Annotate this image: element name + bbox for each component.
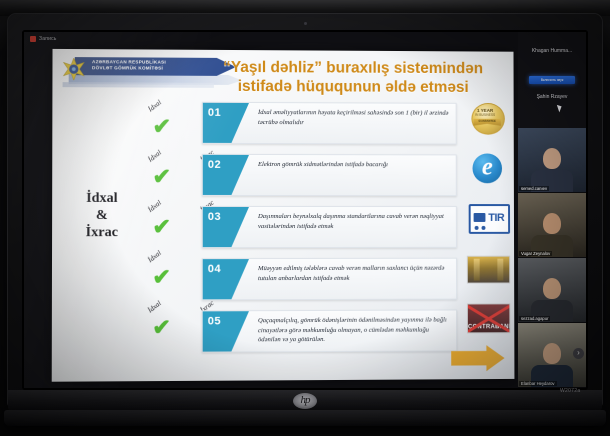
icon-slot-5: CONTRABAND: [465, 301, 510, 341]
illustration-icon-strip: 1 YEAR IN BUSINESS GUARANTEE: [464, 103, 512, 351]
row-number: 04: [208, 263, 221, 275]
left-category-label: İdxal & İxrac: [58, 190, 145, 241]
participant-name: Elanbar Heydarov: [519, 381, 557, 386]
check-mark-icon: ✔: [152, 317, 171, 339]
requirement-row: 05Qaçaqmalçılıq, gömrük ödənişlərinin öd…: [202, 309, 457, 352]
check-mark-icon: ✔: [152, 266, 171, 288]
participants-panel: Khagan Humma... Включить звук Şahin Rzay…: [518, 32, 586, 388]
recording-label: Запись: [39, 36, 57, 42]
zoom-meeting-window: Запись: [24, 32, 586, 388]
participant-tile[interactable]: Vugar Zeynalov: [518, 193, 586, 257]
tir-label: TIR: [484, 209, 508, 227]
row-text: Müəyyən edilmiş tələblərə cavab verən ma…: [258, 264, 450, 283]
row-text: Elektron gömrük xidmətlərindən istifadə …: [258, 160, 450, 170]
row-text: Daşınmaları beynəlxalq daşınma standartl…: [258, 212, 450, 231]
unmute-button-label: Включить звук: [529, 76, 575, 84]
tile-person-head: [543, 343, 561, 364]
tile-person-head: [543, 148, 561, 169]
requirements-list: 01İdxal əməliyyatlarının həyata keçirilm…: [202, 102, 457, 363]
active-speaker-area: Khagan Humma... Включить звук Şahin Rzay…: [518, 32, 586, 128]
participant-tile[interactable]: sezzad.agapur: [518, 258, 586, 322]
check-mark-icon: ✔: [152, 216, 171, 238]
recording-dot-icon: [30, 36, 36, 42]
requirement-row: 03Daşınmaları beynəlxalq daşınma standar…: [202, 206, 457, 248]
participant-name: Vugar Zeynalov: [519, 251, 552, 256]
second-participant-name: Şahin Rzayev: [518, 94, 586, 100]
row-number: 05: [208, 315, 221, 327]
badge-ribbon-text: GUARANTEE: [473, 119, 501, 123]
webcam-icon: [304, 22, 307, 25]
eight-point-star-emblem-icon: [63, 58, 85, 80]
shared-screen-slide[interactable]: AZƏRBAYCAN RESPUBLİKASI DÖVLƏT GÖMRÜK KO…: [52, 49, 515, 382]
monitor-model-label: W2072a: [560, 388, 580, 394]
import-check: İdxal✔: [147, 306, 193, 346]
requirement-row: 04Müəyyən edilmiş tələblərə cavab verən …: [202, 258, 457, 301]
row-number: 01: [208, 107, 221, 119]
requirement-row: 01İdxal əməliyyatlarının həyata keçirilm…: [202, 102, 457, 145]
hp-logo: [293, 393, 317, 409]
unmute-button[interactable]: Включить звук: [529, 76, 575, 84]
import-check-label: İdxal: [146, 249, 162, 264]
check-mark-icon: ✔: [152, 166, 171, 188]
contraband-prohibited-icon: CONTRABAND: [467, 303, 510, 333]
requirement-row: 02Elektron gömrük xidmətlərindən istifad…: [202, 154, 457, 196]
slide-title-line-1: “Yaşıl dəhliz” buraxılış sistemindən: [204, 58, 502, 78]
import-check: İdxal✔: [147, 156, 193, 196]
screenshot-root: Запись: [0, 0, 610, 436]
left-label-line-1: İdxal: [58, 190, 145, 207]
tile-person-head: [543, 278, 561, 299]
row-number: 02: [208, 159, 221, 171]
import-check: İdxal✔: [147, 256, 193, 296]
truck-wheel-rear-icon: [482, 226, 486, 230]
row-number: 03: [208, 211, 221, 223]
laptop: Запись: [8, 14, 602, 426]
next-page-button[interactable]: [573, 348, 584, 359]
participant-tile[interactable]: semed.canıev: [518, 128, 586, 192]
tir-truck-sign-icon: TIR: [469, 204, 510, 234]
participant-name: sezzad.agapur: [519, 316, 550, 321]
import-check-label: İdxal: [146, 299, 162, 314]
icon-slot-4: [465, 252, 510, 292]
icon-slot-3: TIR: [465, 202, 510, 242]
left-label-line-2: &: [58, 207, 145, 224]
internet-explorer-icon: [472, 153, 502, 183]
warehouse-photo: [467, 256, 510, 284]
one-year-in-business-badge: 1 YEAR IN BUSINESS GUARANTEE: [469, 103, 505, 141]
import-check: İdxal✔: [147, 106, 193, 146]
row-text: Qaçaqmalçılıq, gömrük ödənişlərinin ödən…: [258, 315, 450, 344]
truck-wheel-front-icon: [475, 226, 479, 230]
participant-name: semed.canıev: [519, 186, 549, 191]
row-text: İdxal əməliyyatlarının həyata keçirilməs…: [258, 108, 450, 128]
import-check-label: İdxal: [147, 98, 163, 113]
tile-person-head: [543, 213, 561, 234]
badge-line-2: IN BUSINESS: [469, 113, 500, 117]
import-check-label: İdxal: [147, 149, 163, 164]
left-label-line-3: İxrac: [58, 224, 145, 241]
icon-slot-2: [465, 152, 510, 192]
import-check: İdxal✔: [147, 206, 193, 246]
slide-title: “Yaşıl dəhliz” buraxılış sistemindən ist…: [204, 58, 502, 97]
recording-indicator[interactable]: Запись: [30, 36, 57, 42]
mouse-cursor-icon: [557, 104, 563, 113]
slide-canvas: AZƏRBAYCAN RESPUBLİKASI DÖVLƏT GÖMRÜK KO…: [52, 49, 515, 382]
active-speaker-name: Khagan Humma...: [518, 48, 586, 54]
check-mark-icon: ✔: [153, 116, 172, 138]
icon-slot-1: 1 YEAR IN BUSINESS GUARANTEE: [464, 103, 509, 143]
logo-ribbon-low: [63, 82, 214, 88]
slide-title-line-2: istifadə hüququnun əldə etməsi: [204, 77, 502, 97]
laptop-base: [4, 410, 606, 426]
screen-bezel: Запись: [22, 30, 588, 390]
import-check-label: İdxal: [146, 199, 162, 214]
laptop-screen: Запись: [24, 32, 586, 388]
